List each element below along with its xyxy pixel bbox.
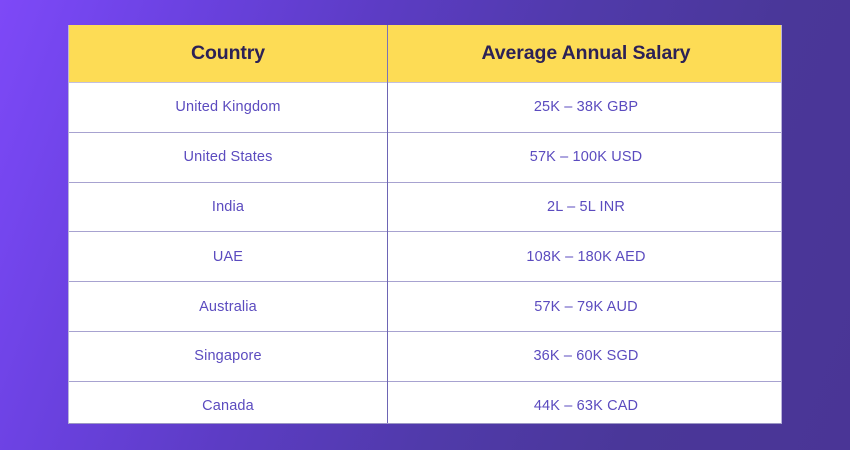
- table-body: United Kingdom 25K – 38K GBP United Stat…: [69, 83, 782, 425]
- cell-salary: 2L – 5L INR: [388, 182, 783, 232]
- cell-country: Australia: [69, 282, 388, 332]
- cell-country: Canada: [69, 381, 388, 424]
- table-row: United Kingdom 25K – 38K GBP: [69, 83, 782, 133]
- cell-country: United Kingdom: [69, 83, 388, 133]
- cell-salary: 25K – 38K GBP: [388, 83, 783, 133]
- column-header-average-annual-salary: Average Annual Salary: [388, 25, 783, 83]
- salary-table: Country Average Annual Salary United Kin…: [69, 25, 782, 424]
- table-header-row: Country Average Annual Salary: [69, 25, 782, 83]
- cell-country: India: [69, 182, 388, 232]
- table-row: UAE 108K – 180K AED: [69, 232, 782, 282]
- cell-salary: 108K – 180K AED: [388, 232, 783, 282]
- page-background: Country Average Annual Salary United Kin…: [0, 0, 850, 450]
- table-row: Canada 44K – 63K CAD: [69, 381, 782, 424]
- table-row: United States 57K – 100K USD: [69, 132, 782, 182]
- cell-country: United States: [69, 132, 388, 182]
- salary-table-container: Country Average Annual Salary United Kin…: [68, 25, 782, 424]
- cell-salary: 36K – 60K SGD: [388, 331, 783, 381]
- table-row: India 2L – 5L INR: [69, 182, 782, 232]
- table-header: Country Average Annual Salary: [69, 25, 782, 83]
- table-row: Australia 57K – 79K AUD: [69, 282, 782, 332]
- table-row: Singapore 36K – 60K SGD: [69, 331, 782, 381]
- cell-salary: 44K – 63K CAD: [388, 381, 783, 424]
- cell-salary: 57K – 100K USD: [388, 132, 783, 182]
- cell-country: UAE: [69, 232, 388, 282]
- column-header-country: Country: [69, 25, 388, 83]
- cell-country: Singapore: [69, 331, 388, 381]
- cell-salary: 57K – 79K AUD: [388, 282, 783, 332]
